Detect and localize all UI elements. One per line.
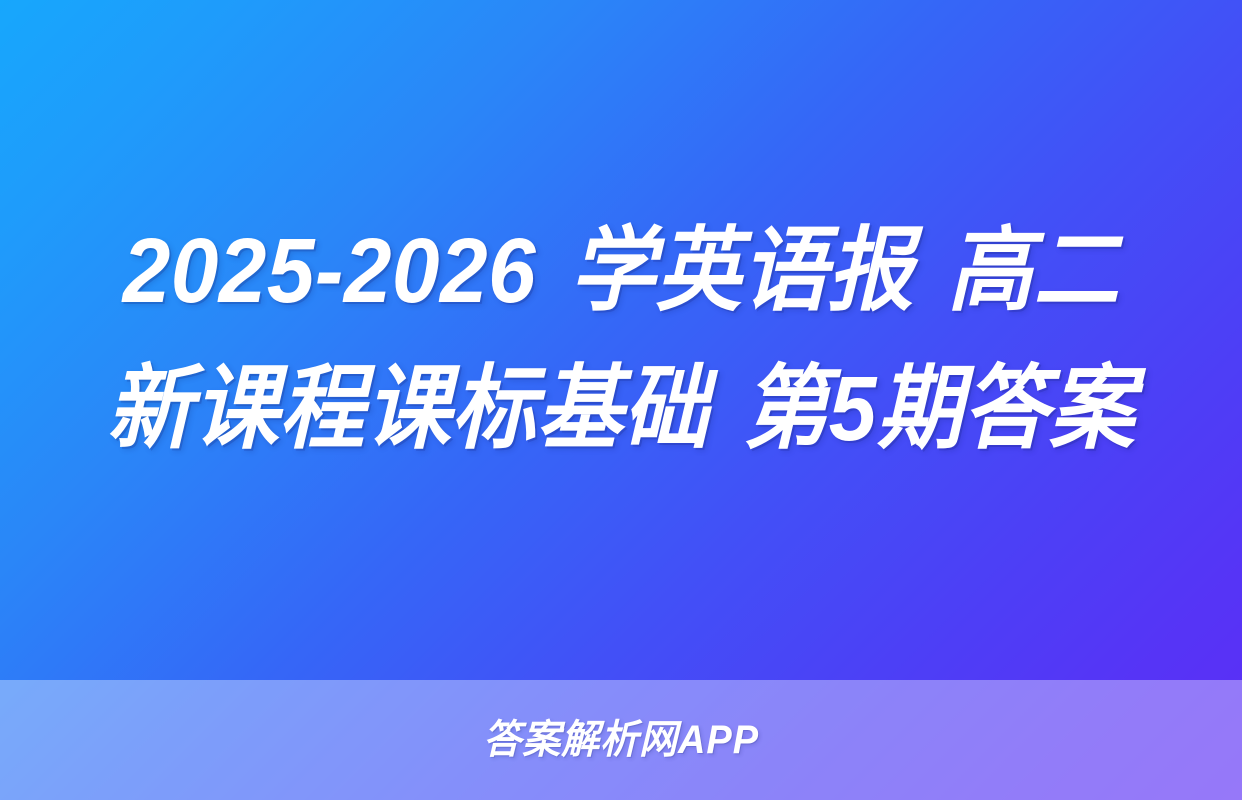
page-title: 2025-2026 学英语报 高二 新课程课标基础 第5期答案 — [99, 202, 1142, 478]
answer-card-banner: 2025-2026 学英语报 高二 新课程课标基础 第5期答案 答案解析网APP — [0, 0, 1242, 800]
footer-brand-bar: 答案解析网APP — [0, 680, 1242, 800]
headline-container: 2025-2026 学英语报 高二 新课程课标基础 第5期答案 — [0, 0, 1242, 680]
brand-label: 答案解析网APP — [483, 718, 759, 762]
